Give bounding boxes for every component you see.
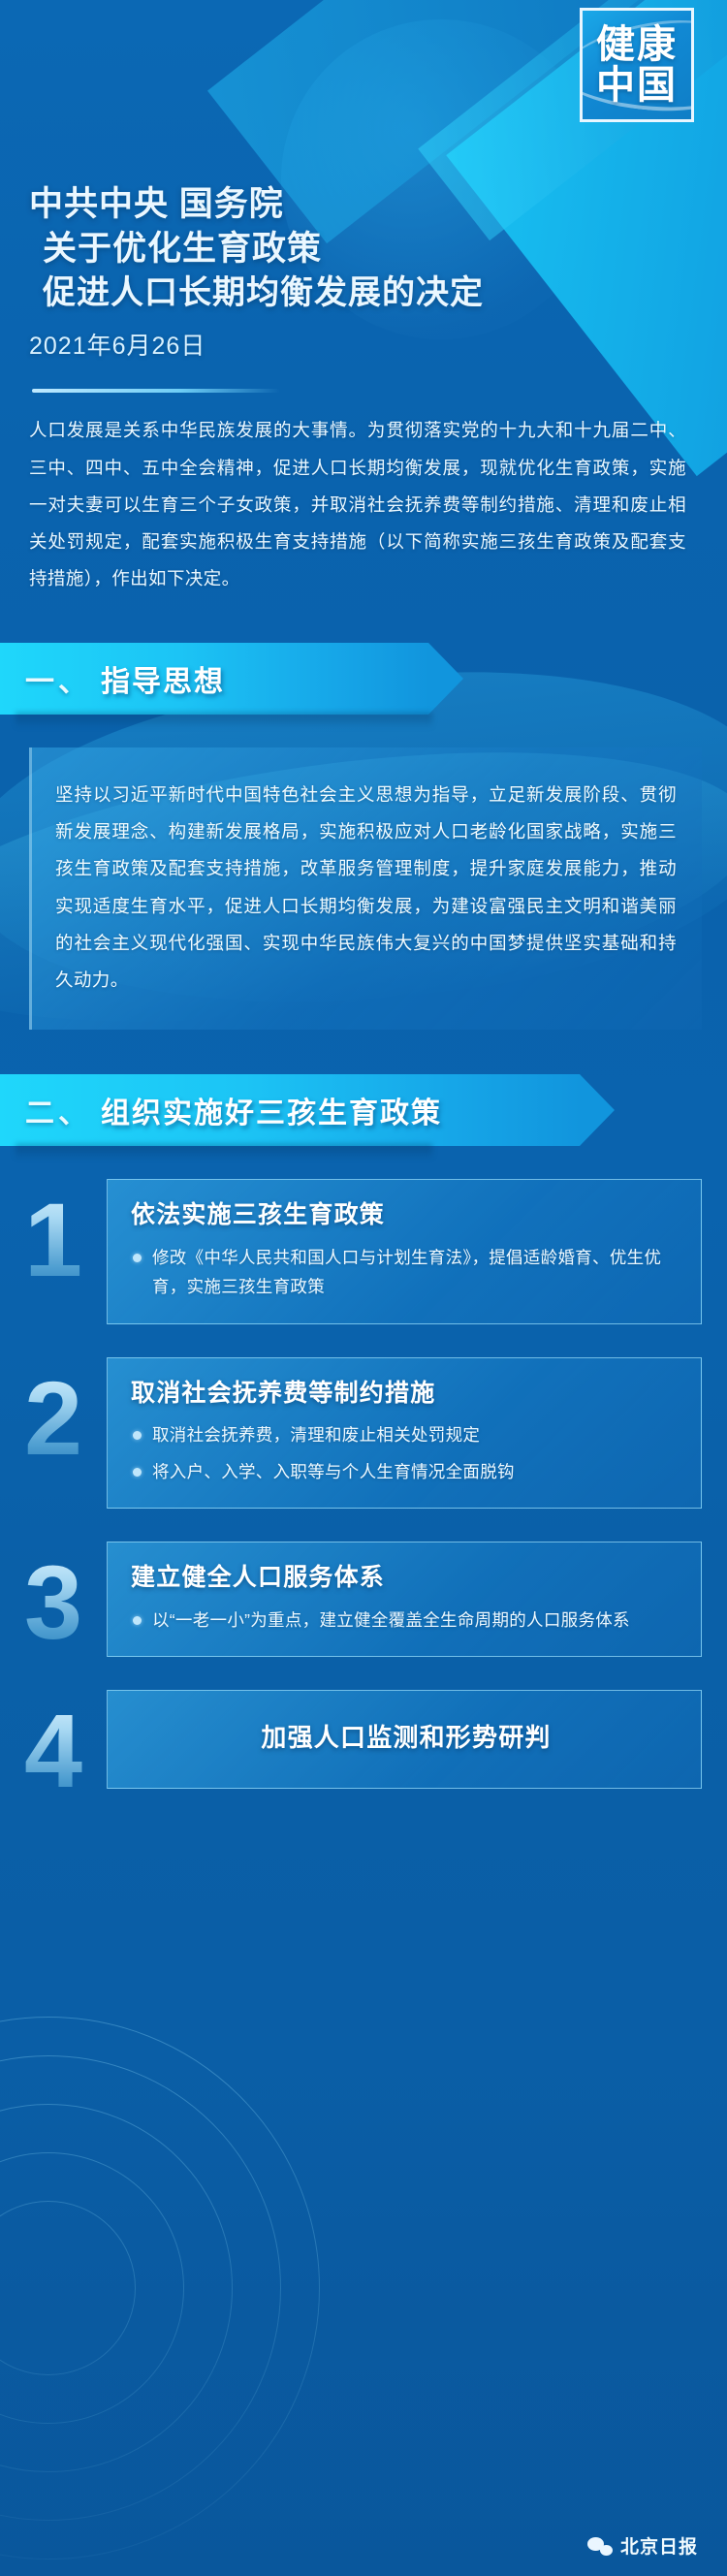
measure-card-row: 2 取消社会抚养费等制约措施 取消社会抚养费，清理和废止相关处罚规定 将入户、入… bbox=[0, 1357, 727, 1510]
section-1-title: 指导思想 bbox=[101, 657, 225, 700]
list-item: 将入户、入学、入职等与个人生育情况全面脱钩 bbox=[131, 1457, 681, 1487]
background-bottom-glow bbox=[0, 2072, 727, 2576]
measure-card[interactable]: 加强人口监测和形势研判 bbox=[107, 1690, 702, 1789]
background-rings bbox=[0, 2017, 320, 2560]
card-bullets: 修改《中华人民共和国人口与计划生育法》，提倡适龄婚育、优生优育，实施三孩生育政策 bbox=[131, 1243, 681, 1302]
measure-card[interactable]: 建立健全人口服务体系 以“一老一小”为重点，建立健全覆盖全生命周期的人口服务体系 bbox=[107, 1542, 702, 1657]
section-1-banner-wrap: 一、 指导思想 bbox=[0, 643, 727, 715]
wechat-icon bbox=[587, 2536, 613, 2556]
document-header: 中共中央 国务院 关于优化生育政策 促进人口长期均衡发展的决定 2021年6月2… bbox=[0, 0, 727, 598]
bullet-dot-icon bbox=[133, 1431, 142, 1440]
measure-card-row: 3 建立健全人口服务体系 以“一老一小”为重点，建立健全覆盖全生命周期的人口服务… bbox=[0, 1542, 727, 1657]
bullet-dot-icon bbox=[133, 1254, 142, 1262]
measure-card-row: 1 依法实施三孩生育政策 修改《中华人民共和国人口与计划生育法》，提倡适龄婚育、… bbox=[0, 1179, 727, 1324]
card-title: 加强人口监测和形势研判 bbox=[131, 1720, 681, 1757]
card-title: 依法实施三孩生育政策 bbox=[131, 1197, 681, 1232]
section-1-banner-shadow bbox=[16, 713, 432, 728]
bullet-dot-icon bbox=[133, 1616, 142, 1625]
section-1-panel: 坚持以习近平新时代中国特色社会主义思想为指导，立足新发展阶段、贯彻新发展理念、构… bbox=[29, 747, 702, 1031]
card-number: 3 bbox=[0, 1542, 107, 1653]
bullet-dot-icon bbox=[133, 1468, 142, 1477]
document-date: 2021年6月26日 bbox=[29, 327, 702, 362]
section-2-banner-wrap: 二、 组织实施好三孩生育政策 bbox=[0, 1074, 727, 1146]
section-2-banner-shadow bbox=[16, 1144, 432, 1160]
section-1-banner: 一、 指导思想 bbox=[0, 643, 428, 715]
section-2-banner: 二、 组织实施好三孩生育政策 bbox=[0, 1074, 580, 1146]
list-item: 以“一老一小”为重点，建立健全覆盖全生命周期的人口服务体系 bbox=[131, 1606, 681, 1636]
intro-paragraph: 人口发展是关系中华民族发展的大事情。为贯彻落实党的十九大和十九届二中、三中、四中… bbox=[29, 412, 702, 597]
card-number: 2 bbox=[0, 1357, 107, 1469]
card-bullets: 取消社会抚养费，清理和废止相关处罚规定 将入户、入学、入职等与个人生育情况全面脱… bbox=[131, 1420, 681, 1486]
bullet-text: 以“一老一小”为重点，建立健全覆盖全生命周期的人口服务体系 bbox=[152, 1606, 630, 1636]
page-title-line-1: 中共中央 国务院 bbox=[29, 182, 702, 227]
card-bullets: 以“一老一小”为重点，建立健全覆盖全生命周期的人口服务体系 bbox=[131, 1606, 681, 1636]
card-number: 4 bbox=[0, 1690, 107, 1801]
bullet-text: 将入户、入学、入职等与个人生育情况全面脱钩 bbox=[152, 1457, 515, 1487]
section-2-title: 组织实施好三孩生育政策 bbox=[101, 1089, 442, 1131]
card-number: 1 bbox=[0, 1179, 107, 1290]
card-title: 建立健全人口服务体系 bbox=[131, 1560, 681, 1595]
section-1-number: 一、 bbox=[0, 657, 91, 700]
list-item: 修改《中华人民共和国人口与计划生育法》，提倡适龄婚育、优生优育，实施三孩生育政策 bbox=[131, 1243, 681, 1302]
page-title-line-2: 关于优化生育政策 bbox=[29, 227, 702, 271]
title-divider bbox=[32, 389, 280, 393]
measure-card[interactable]: 取消社会抚养费等制约措施 取消社会抚养费，清理和废止相关处罚规定 将入户、入学、… bbox=[107, 1357, 702, 1510]
bullet-text: 修改《中华人民共和国人口与计划生育法》，提倡适龄婚育、优生优育，实施三孩生育政策 bbox=[152, 1243, 681, 1302]
card-title: 取消社会抚养费等制约措施 bbox=[131, 1376, 681, 1411]
page-title-line-3: 促进人口长期均衡发展的决定 bbox=[29, 271, 702, 315]
source-name: 北京日报 bbox=[620, 2532, 698, 2559]
section-1-body: 坚持以习近平新时代中国特色社会主义思想为指导，立足新发展阶段、贯彻新发展理念、构… bbox=[55, 777, 677, 1000]
measure-card-row: 4 加强人口监测和形势研判 bbox=[0, 1690, 727, 1801]
measure-card-list: 1 依法实施三孩生育政策 修改《中华人民共和国人口与计划生育法》，提倡适龄婚育、… bbox=[0, 1179, 727, 1872]
source-footer: 北京日报 bbox=[587, 2532, 698, 2559]
list-item: 取消社会抚养费，清理和废止相关处罚规定 bbox=[131, 1420, 681, 1450]
measure-card[interactable]: 依法实施三孩生育政策 修改《中华人民共和国人口与计划生育法》，提倡适龄婚育、优生… bbox=[107, 1179, 702, 1324]
bullet-text: 取消社会抚养费，清理和废止相关处罚规定 bbox=[152, 1420, 480, 1450]
section-2-number: 二、 bbox=[0, 1089, 91, 1131]
